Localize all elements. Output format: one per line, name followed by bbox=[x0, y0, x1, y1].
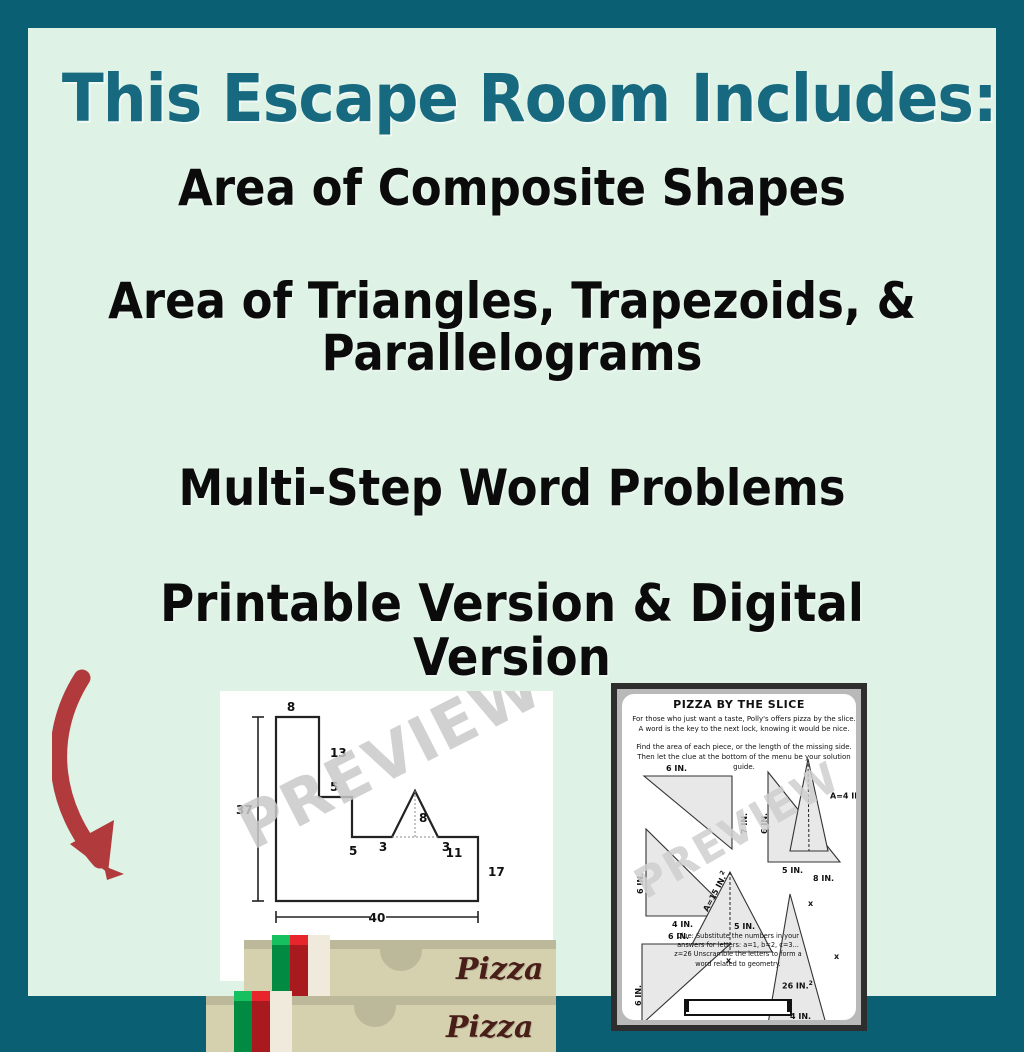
curved-arrow-icon bbox=[52, 668, 202, 898]
label-t3-height: 8 IN. bbox=[813, 874, 834, 883]
svg-text:40: 40 bbox=[369, 911, 386, 925]
composite-shape-diagram: 8 13 5 5 3 8 3 11 17 37 40 40 bbox=[220, 691, 553, 981]
label-t3-base: x bbox=[808, 899, 813, 908]
menu-gray-mat: PIZZA BY THE SLICE For those who just wa… bbox=[617, 689, 861, 1025]
pizza-menu-preview[interactable]: PIZZA BY THE SLICE For those who just wa… bbox=[611, 683, 867, 1031]
feature-line-1: Area of Composite Shapes bbox=[76, 163, 947, 215]
label-t2-bottom: 5 IN. bbox=[782, 866, 803, 875]
feature-line-2: Area of Triangles, Trapezoids, & Paralle… bbox=[76, 276, 947, 379]
feature-line-4: Printable Version & Digital Version bbox=[76, 578, 947, 685]
pizza-box-stack: Pizza Pizza bbox=[196, 940, 556, 1052]
label-t4-side: 6 IN. bbox=[636, 873, 645, 894]
label-t7-side: x bbox=[834, 952, 839, 961]
svg-text:3: 3 bbox=[379, 840, 387, 854]
stripe-green-light bbox=[272, 935, 290, 945]
feature-line-3: Multi-Step Word Problems bbox=[76, 463, 947, 515]
label-t7-bottom: 4 IN. bbox=[790, 1012, 811, 1020]
page-title: This Escape Room Includes: bbox=[62, 60, 962, 137]
svg-text:11: 11 bbox=[446, 846, 463, 860]
stripe-white bbox=[308, 935, 330, 996]
stripe-red-light bbox=[290, 935, 308, 945]
pizza-box-label: Pizza bbox=[456, 952, 543, 987]
label-t2-side: 6 IN. bbox=[760, 813, 769, 834]
svg-text:13: 13 bbox=[330, 746, 347, 760]
svg-text:5: 5 bbox=[330, 780, 338, 794]
label-t1-top: 6 IN. bbox=[666, 764, 687, 773]
stripe-green-light bbox=[234, 991, 252, 1001]
label-t7-area: 26 IN.2 bbox=[782, 980, 813, 991]
label-t5-height: 5 IN. bbox=[734, 922, 755, 931]
svg-text:37: 37 bbox=[236, 803, 253, 817]
pizza-box-bottom: Pizza bbox=[206, 996, 556, 1052]
answer-input-box[interactable] bbox=[684, 999, 792, 1016]
stripe-white bbox=[270, 991, 292, 1052]
label-t6-side: 6 IN. bbox=[634, 985, 643, 1006]
menu-triangles bbox=[622, 694, 856, 1020]
menu-clue-text: Clue: Substitute the numbers in your ans… bbox=[674, 932, 802, 969]
poster-root: This Escape Room Includes: Area of Compo… bbox=[0, 0, 1024, 1024]
svg-text:8: 8 bbox=[287, 700, 295, 714]
svg-text:5: 5 bbox=[349, 844, 357, 858]
label-t4-bottom: 4 IN. bbox=[672, 920, 693, 929]
pizza-box-label: Pizza bbox=[446, 1010, 533, 1045]
stripe-red-light bbox=[252, 991, 270, 1001]
label-t1-side: 7 IN. bbox=[740, 813, 749, 834]
label-t3-area: A=4 IN.2 bbox=[830, 790, 856, 801]
svg-text:17: 17 bbox=[488, 865, 505, 879]
poster-inner-panel: This Escape Room Includes: Area of Compo… bbox=[28, 28, 996, 996]
menu-page: PIZZA BY THE SLICE For those who just wa… bbox=[622, 694, 856, 1020]
pizza-box-top: Pizza bbox=[244, 940, 556, 996]
svg-text:8: 8 bbox=[419, 811, 427, 825]
composite-shape-preview[interactable]: 8 13 5 5 3 8 3 11 17 37 40 40 PREVIEW bbox=[220, 691, 553, 981]
